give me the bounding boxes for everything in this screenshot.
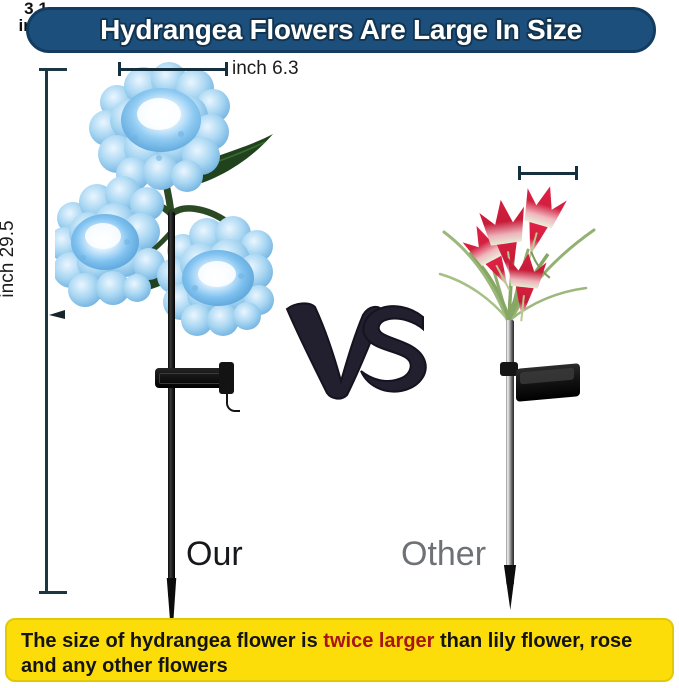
title-banner: Hydrangea Flowers Are Large In Size <box>26 7 656 53</box>
our-height-dimension-line <box>39 68 53 594</box>
dimension-end-cap <box>39 591 67 594</box>
caption-banner: The size of hydrangea flower is twice la… <box>5 618 674 682</box>
other-stake-pole <box>506 320 514 585</box>
our-solar-panel-wire <box>226 388 240 412</box>
dimension-end-cap <box>39 68 67 71</box>
vs-icon <box>283 295 429 401</box>
dimension-bar <box>518 172 578 175</box>
our-product-image <box>55 62 285 587</box>
other-product-label: Other <box>401 535 486 574</box>
our-height-label: inch 29.5 <box>0 179 19 339</box>
dimension-end-cap <box>225 62 228 76</box>
caption-text: The size of hydrangea flower is twice la… <box>21 629 660 679</box>
our-stake-pole <box>168 212 175 597</box>
page-title: Hydrangea Flowers Are Large In Size <box>100 14 582 46</box>
dimension-bar <box>118 68 228 71</box>
our-solar-panel-cell <box>159 373 223 384</box>
our-width-label: inch 6.3 <box>232 58 299 80</box>
caption-highlight: twice larger <box>323 630 434 652</box>
dimension-end-cap <box>575 166 578 180</box>
caption-prefix: The size of hydrangea flower is <box>21 630 323 652</box>
our-product-label: Our <box>186 535 243 574</box>
dimension-bar <box>45 68 48 594</box>
other-product-image <box>430 170 630 590</box>
other-width-dimension-line <box>518 166 578 180</box>
our-width-dimension-line <box>118 62 228 76</box>
